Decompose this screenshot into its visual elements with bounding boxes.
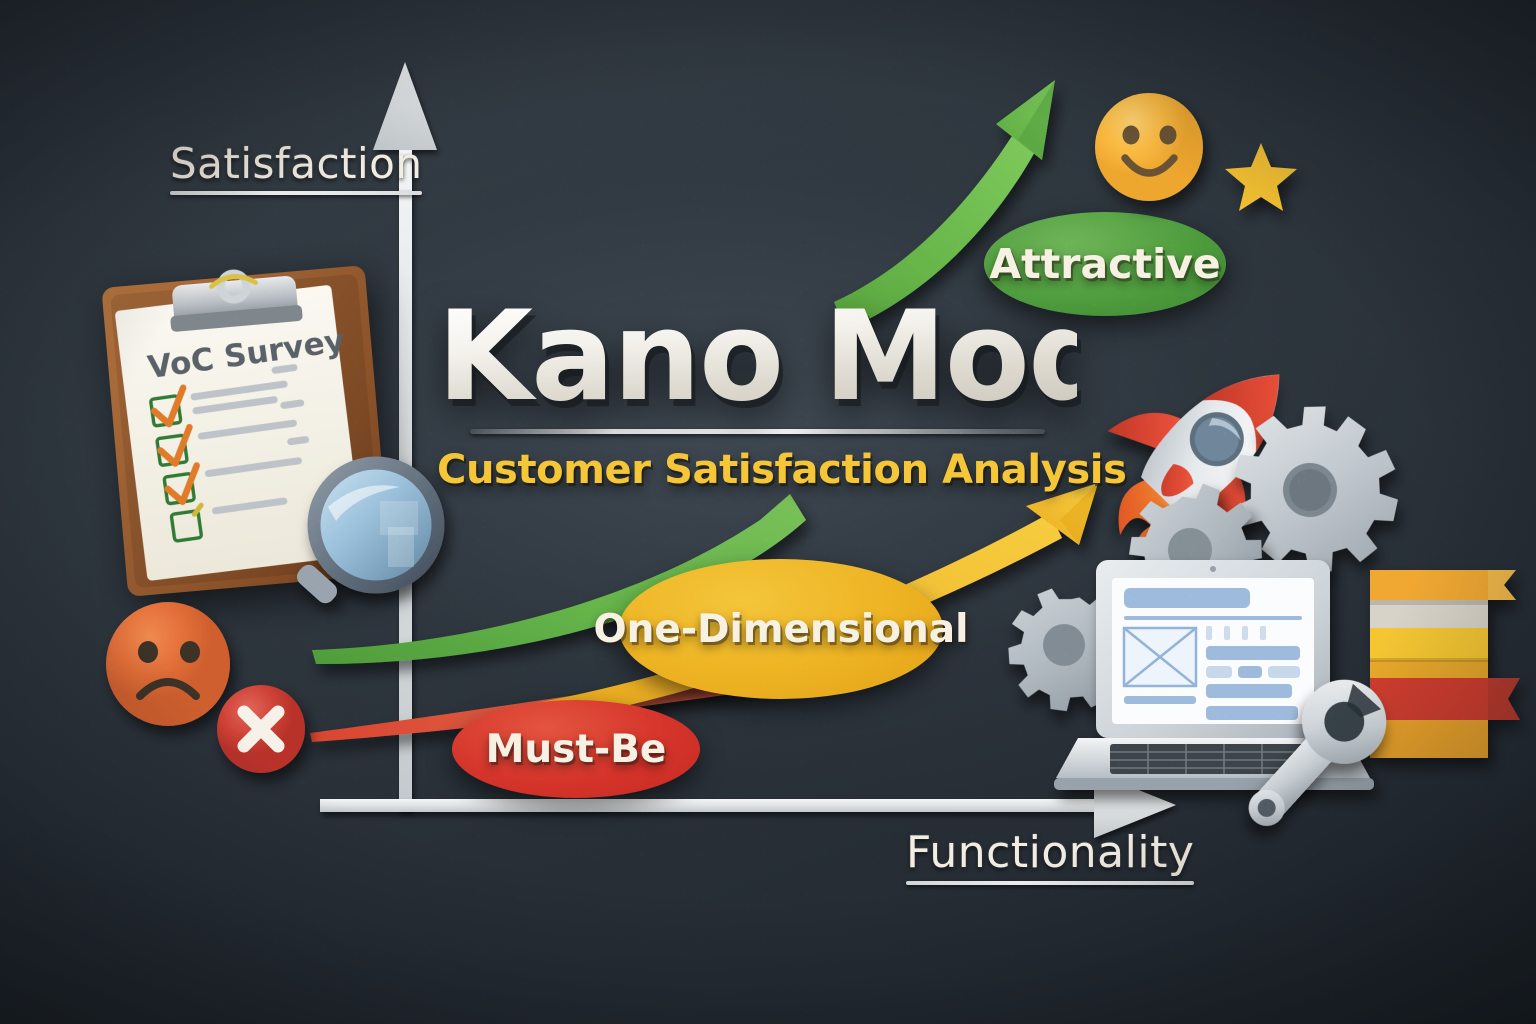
y-axis-label-underline bbox=[170, 191, 422, 195]
x-axis-label-underline bbox=[906, 881, 1194, 885]
x-axis-label: Functionality bbox=[906, 827, 1194, 885]
category-label-attractive: Attractive bbox=[989, 240, 1220, 288]
category-label-must-be: Must-Be bbox=[486, 727, 667, 772]
page-subtitle: Customer Satisfaction Analysis bbox=[437, 447, 1077, 493]
title-block: Kano Model Customer Satisfaction Analysi… bbox=[437, 297, 1077, 493]
cross-mark-icon bbox=[216, 684, 308, 776]
star-icon bbox=[1224, 140, 1298, 214]
wrench-icon bbox=[1212, 660, 1422, 850]
category-label-one-dimensional: One-Dimensional bbox=[594, 607, 969, 652]
y-axis-label: Satisfaction bbox=[170, 139, 422, 195]
magnifier-icon[interactable] bbox=[288, 455, 468, 645]
kano-model-chalkboard: Satisfaction Functionality Attractive On… bbox=[0, 0, 1536, 1024]
category-pill-must-be[interactable]: Must-Be bbox=[452, 700, 700, 798]
page-title: Kano Model bbox=[437, 297, 1077, 419]
category-pill-one-dimensional[interactable]: One-Dimensional bbox=[619, 559, 943, 699]
title-divider bbox=[470, 429, 1045, 434]
frowny-face-icon bbox=[104, 600, 234, 732]
smiley-face-icon bbox=[1094, 92, 1206, 204]
